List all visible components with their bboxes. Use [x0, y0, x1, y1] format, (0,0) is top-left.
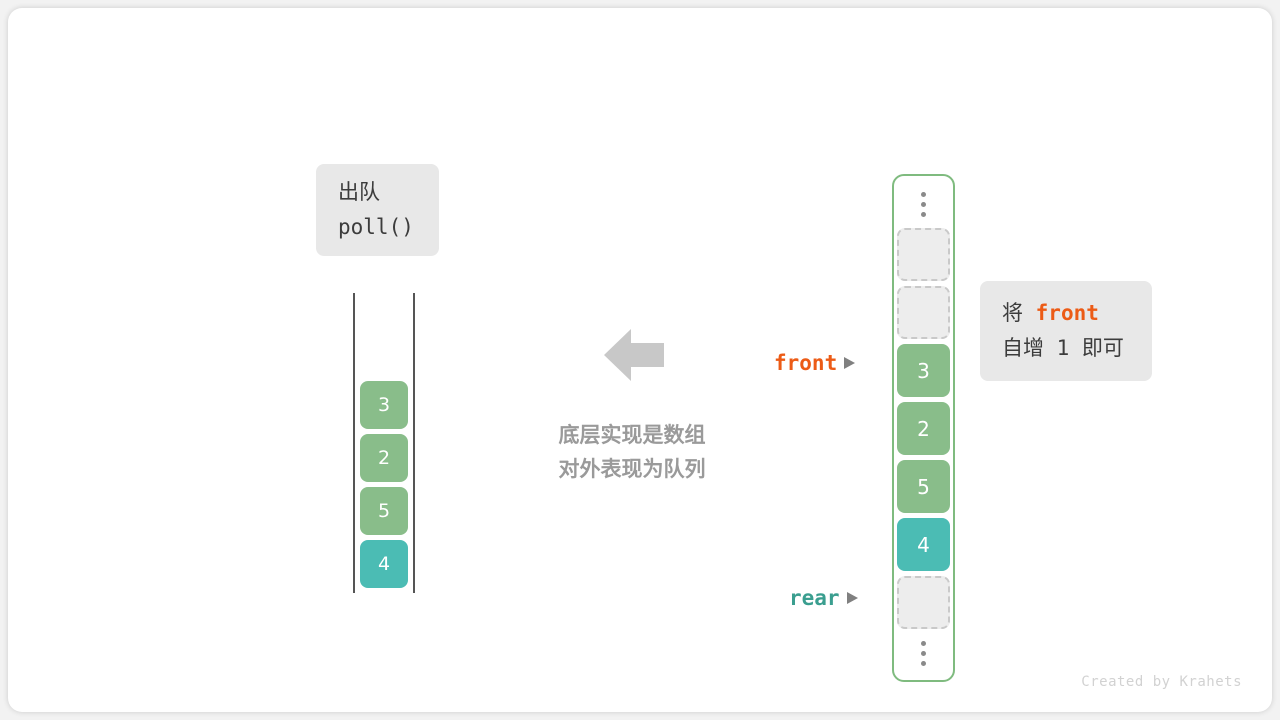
hint-note-box: 将 front 自增 1 即可 — [980, 281, 1152, 381]
ellipsis-dot-icon — [921, 212, 926, 217]
queue-cell-1: 2 — [360, 434, 408, 482]
queue-cell-0: 3 — [360, 381, 408, 429]
dequeue-flow-arrow — [604, 329, 664, 381]
ellipsis-dot-icon — [921, 202, 926, 207]
array-cell-4: 5 — [897, 460, 950, 513]
array-top-ellipsis — [897, 185, 950, 223]
front-pointer-label: front — [774, 351, 855, 375]
ellipsis-dot-icon — [921, 651, 926, 656]
hint-note-line-2: 自增 1 即可 — [1002, 331, 1124, 366]
diagram-card: 出队 poll() 3254 底层实现是数组 对外表现为队列 front rea… — [8, 8, 1272, 712]
credit-text: Created by Krahets — [1081, 674, 1242, 690]
queue-wall-left — [353, 293, 355, 593]
array-cell-6 — [897, 576, 950, 629]
queue-cell-3: 4 — [360, 540, 408, 588]
array-cell-list: 3254 — [894, 176, 953, 680]
middle-caption: 底层实现是数组 对外表现为队列 — [516, 418, 748, 486]
ellipsis-dot-icon — [921, 641, 926, 646]
front-pointer-arrow-icon — [844, 357, 855, 369]
middle-caption-line-1: 底层实现是数组 — [516, 418, 748, 452]
queue-cell-list: 3254 — [360, 381, 408, 588]
queue-abstract-view: 3254 — [353, 293, 415, 593]
operation-note-line-1: 出队 — [338, 175, 380, 210]
array-cell-1 — [897, 286, 950, 339]
front-pointer-text: front — [774, 351, 837, 375]
operation-note-line-2: poll() — [338, 210, 414, 245]
rear-pointer-label: rear — [789, 586, 858, 610]
diagram-canvas: 出队 poll() 3254 底层实现是数组 对外表现为队列 front rea… — [0, 0, 1280, 720]
hint-note-front-keyword: front — [1036, 301, 1099, 325]
rear-pointer-arrow-icon — [847, 592, 858, 604]
ellipsis-dot-icon — [921, 192, 926, 197]
array-cell-2: 3 — [897, 344, 950, 397]
array-backing-store: 3254 — [892, 174, 955, 682]
rear-pointer-text: rear — [789, 586, 840, 610]
middle-caption-line-2: 对外表现为队列 — [516, 452, 748, 486]
queue-wall-right — [413, 293, 415, 593]
array-cell-0 — [897, 228, 950, 281]
hint-note-line-1: 将 front — [1002, 296, 1099, 331]
left-arrow-icon — [604, 329, 664, 381]
ellipsis-dot-icon — [921, 661, 926, 666]
array-bottom-ellipsis — [897, 634, 950, 672]
operation-note-box: 出队 poll() — [316, 164, 439, 256]
array-cell-5: 4 — [897, 518, 950, 571]
hint-note-prefix: 将 — [1002, 301, 1036, 325]
array-cell-3: 2 — [897, 402, 950, 455]
queue-cell-2: 5 — [360, 487, 408, 535]
